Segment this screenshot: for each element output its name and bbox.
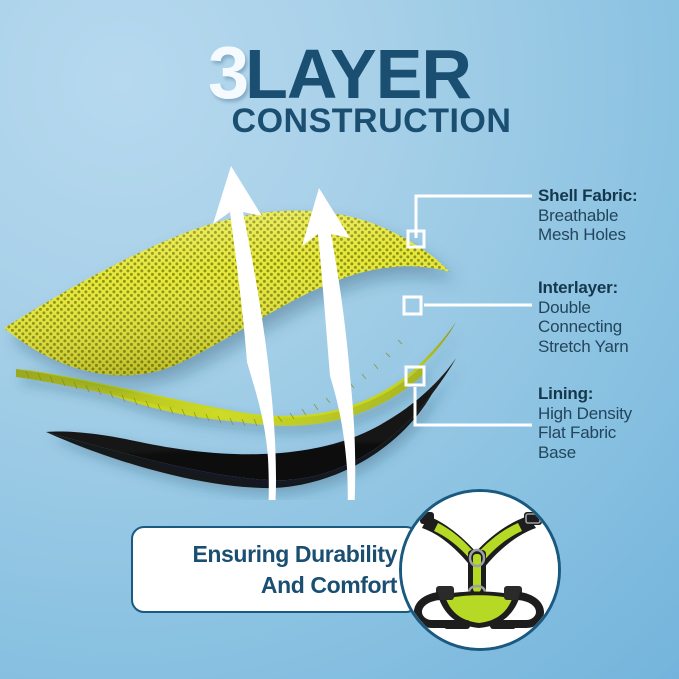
callout-shell-line-2: Mesh Holes	[538, 225, 637, 245]
callout-interlayer-line-3: Stretch Yarn	[538, 337, 629, 357]
callout-shell-fabric: Shell Fabric: Breathable Mesh Holes	[538, 186, 637, 245]
callout-interlayer-heading: Interlayer:	[538, 278, 629, 298]
product-photo-circle	[399, 489, 561, 651]
shell-fabric-layer	[4, 211, 450, 376]
callout-interlayer-line-1: Double	[538, 298, 629, 318]
fabric-layer-stack	[0, 150, 500, 500]
callout-interlayer: Interlayer: Double Connecting Stretch Ya…	[538, 278, 629, 357]
page-title: 3LAYER CONSTRUCTION	[0, 36, 679, 138]
infographic-canvas: 3LAYER CONSTRUCTION	[0, 0, 679, 679]
callout-interlayer-line-2: Connecting	[538, 317, 629, 337]
callout-lining: Lining: High Density Flat Fabric Base	[538, 384, 632, 463]
callout-lining-line-2: Flat Fabric	[538, 423, 632, 443]
title-main-row: 3LAYER	[0, 36, 679, 110]
tagline-line-2: And Comfort	[261, 570, 397, 600]
dog-harness-illustration	[402, 492, 558, 648]
callout-shell-heading: Shell Fabric:	[538, 186, 637, 206]
tagline-line-1: Ensuring Durability	[192, 539, 397, 569]
callout-lining-line-3: Base	[538, 443, 632, 463]
callout-shell-line-1: Breathable	[538, 206, 637, 226]
callout-lining-line-1: High Density	[538, 404, 632, 424]
tagline-banner: Ensuring Durability And Comfort	[131, 526, 419, 613]
title-subtitle: CONSTRUCTION	[0, 104, 679, 138]
callout-lining-heading: Lining:	[538, 384, 632, 404]
